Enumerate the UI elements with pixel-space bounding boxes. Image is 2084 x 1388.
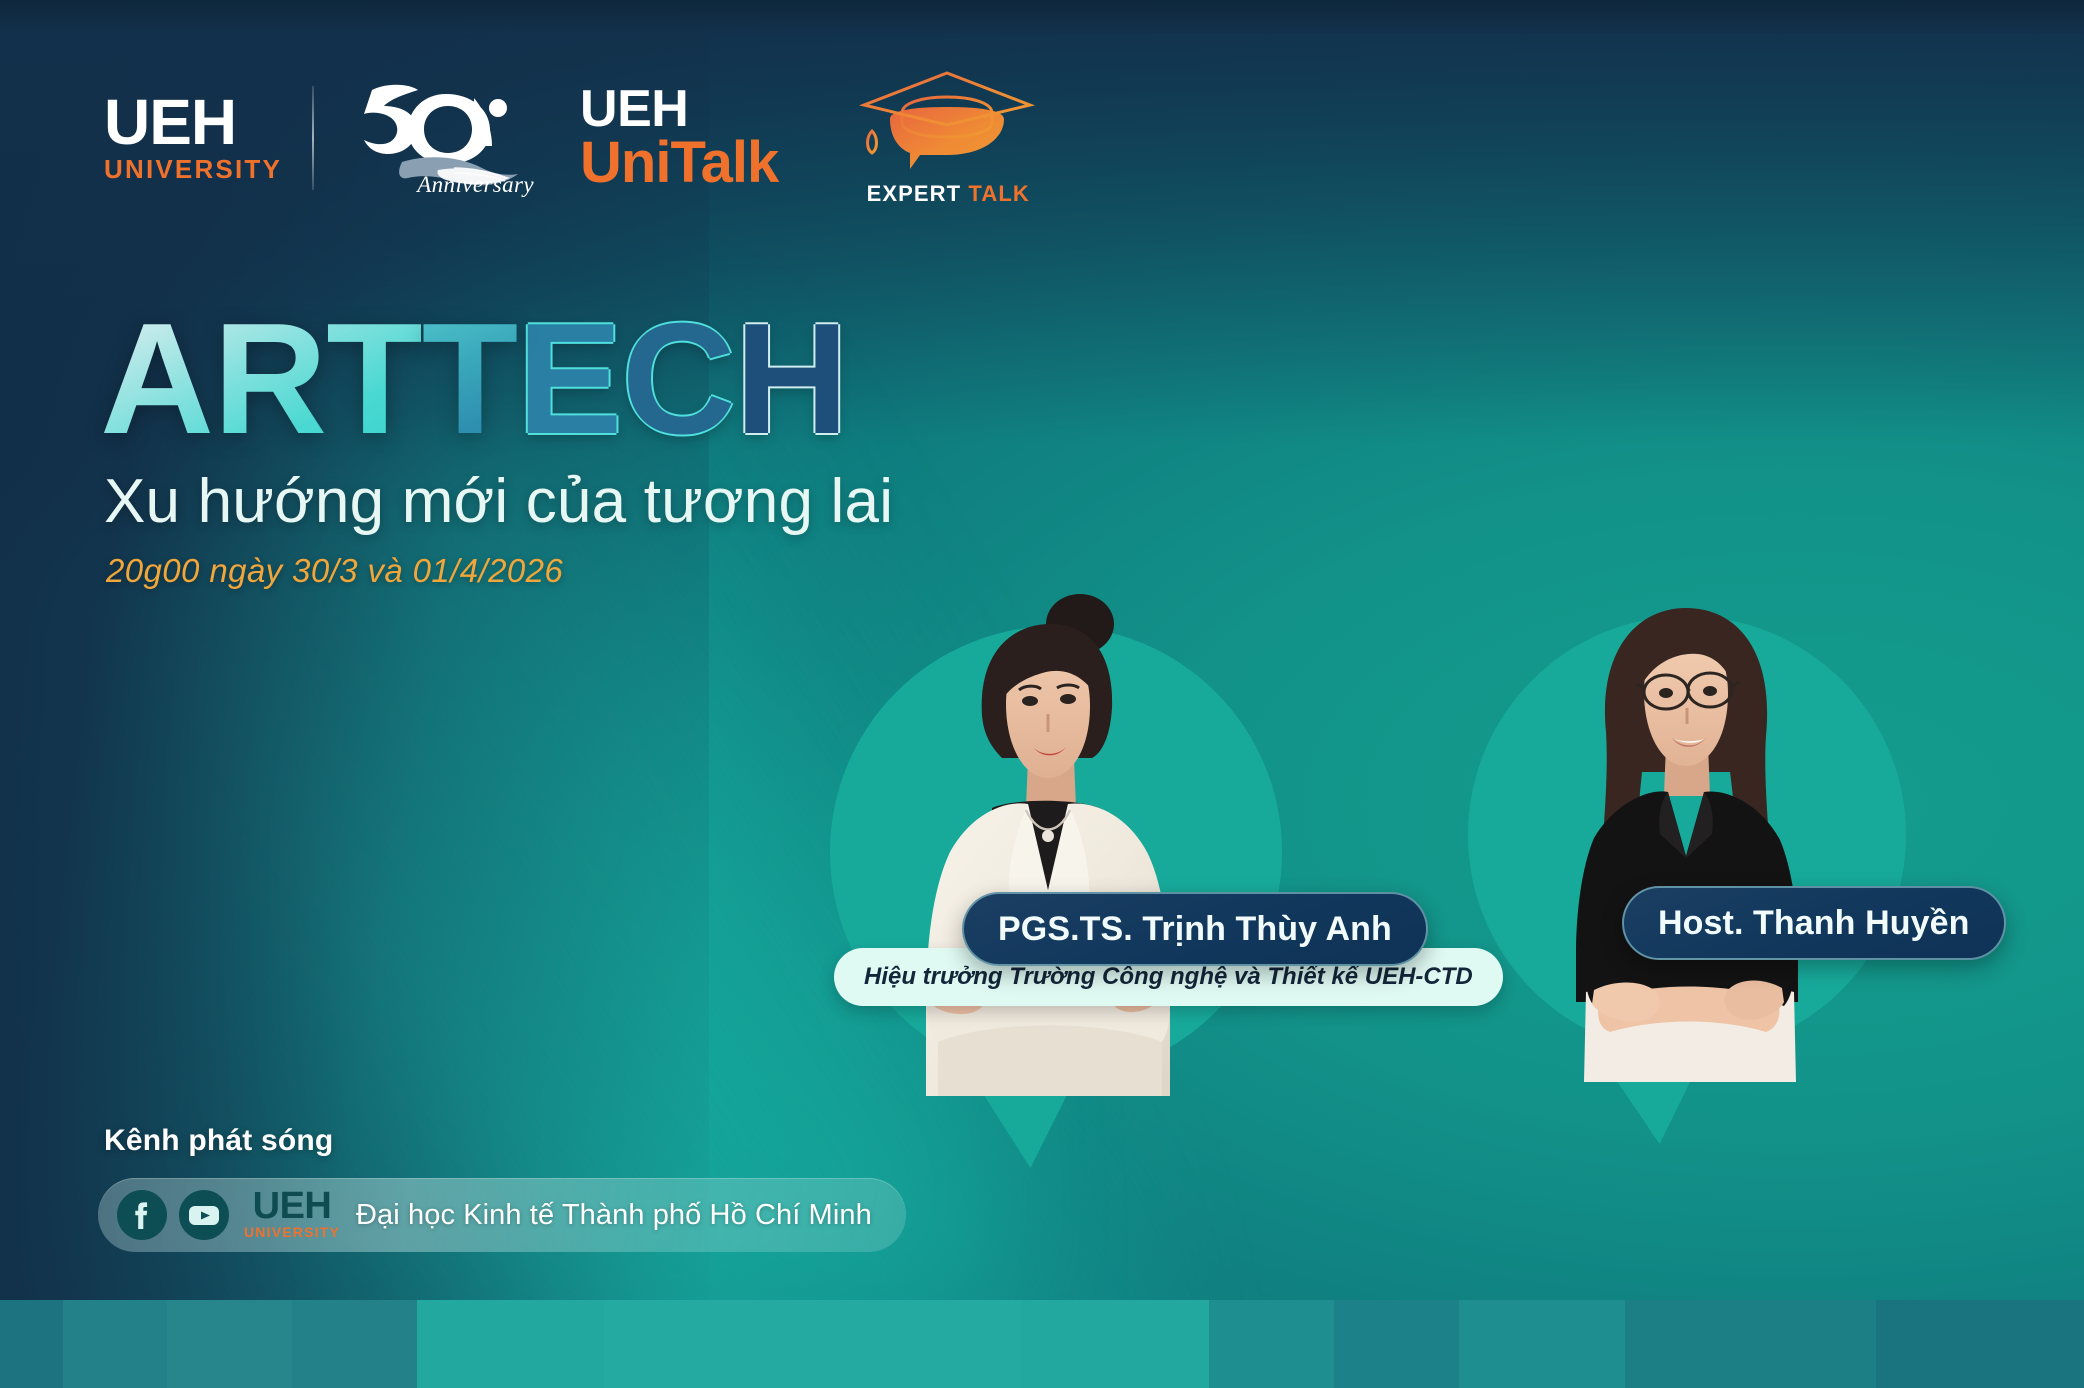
bottom-bar-band bbox=[292, 1300, 417, 1388]
bottom-bar-band bbox=[63, 1300, 167, 1388]
expert-talk-label: EXPERT TALK bbox=[858, 181, 1038, 207]
graduation-cap-speech-bubble-icon bbox=[858, 69, 1036, 173]
hero-title-segment-e: E bbox=[517, 300, 621, 458]
speaker-card-2 bbox=[1454, 600, 1902, 1070]
bottom-bar-band bbox=[0, 1300, 63, 1388]
hero-subtitle: Xu hướng mới của tương lai bbox=[104, 466, 893, 537]
hero-title-segment-art: ART bbox=[100, 300, 422, 458]
facebook-icon[interactable] bbox=[116, 1189, 168, 1241]
hero-title: ARTTECH bbox=[100, 300, 848, 458]
broadcast-channel-name: Đại học Kinh tế Thành phố Hồ Chí Minh bbox=[356, 1199, 872, 1232]
ueh-university-label: UNIVERSITY bbox=[104, 155, 282, 185]
bottom-bar-band bbox=[1876, 1300, 2084, 1388]
logo-divider bbox=[312, 86, 314, 190]
unitalk-wordmark-text: UniTalk bbox=[580, 133, 778, 192]
speaker-name-badge-1: PGS.TS. Trịnh Thùy Anh bbox=[962, 892, 1428, 966]
portrait-illustration-2 bbox=[1490, 482, 1882, 1082]
poster-canvas: UEH UNIVERSITY Anniversary bbox=[0, 0, 2084, 1388]
talk-word: TALK bbox=[968, 181, 1029, 206]
bottom-bar-band bbox=[1334, 1300, 1459, 1388]
hero-title-segment-h: H bbox=[735, 300, 848, 458]
speaker-avatar-thanh-huyen bbox=[1490, 482, 1882, 1082]
bottom-bar-band bbox=[167, 1300, 292, 1388]
unitalk-wordmark: UniTalk bbox=[580, 133, 778, 192]
ueh-wordmark: UEH bbox=[104, 91, 236, 154]
speaker-card-1 bbox=[812, 608, 1282, 1088]
bottom-bar-band bbox=[1625, 1300, 1875, 1388]
broadcast-channel-pill[interactable]: UEH UNIVERSITY Đại học Kinh tế Thành phố… bbox=[98, 1178, 906, 1252]
expert-word: EXPERT bbox=[867, 181, 962, 206]
broadcast-label: Kênh phát sóng bbox=[104, 1124, 333, 1158]
background-top-strip bbox=[0, 0, 2084, 34]
bottom-bar-band bbox=[1459, 1300, 1626, 1388]
bottom-bar-band bbox=[417, 1300, 605, 1388]
bottom-bar-band bbox=[604, 1300, 1021, 1388]
expert-talk-logo: EXPERT TALK bbox=[858, 73, 1038, 203]
broadcast-ueh-wordmark: UEH bbox=[253, 1189, 332, 1223]
broadcast-ueh-mark: UEH UNIVERSITY bbox=[244, 1189, 340, 1241]
broadcast-ueh-sub: UNIVERSITY bbox=[244, 1223, 340, 1241]
bottom-bar-band bbox=[1021, 1300, 1209, 1388]
bottom-color-bar bbox=[0, 1300, 2084, 1388]
hero-title-segment-c: C bbox=[622, 300, 735, 458]
youtube-icon[interactable] bbox=[178, 1189, 230, 1241]
hero-title-segment-t: T bbox=[422, 300, 518, 458]
bottom-bar-band bbox=[1209, 1300, 1334, 1388]
hero-datetime: 20g00 ngày 30/3 và 01/4/2026 bbox=[106, 552, 563, 590]
anniversary-50-logo: Anniversary bbox=[342, 80, 538, 196]
anniversary-word: Anniversary bbox=[417, 172, 534, 198]
unitalk-ueh-line: UEH bbox=[580, 83, 688, 135]
logo-row: UEH UNIVERSITY Anniversary bbox=[104, 74, 1038, 202]
ueh-university-logo: UEH UNIVERSITY bbox=[104, 91, 282, 186]
speaker-name-badge-2: Host. Thanh Huyền bbox=[1622, 886, 2006, 960]
ueh-unitalk-logo: UEH UniTalk bbox=[580, 83, 778, 192]
